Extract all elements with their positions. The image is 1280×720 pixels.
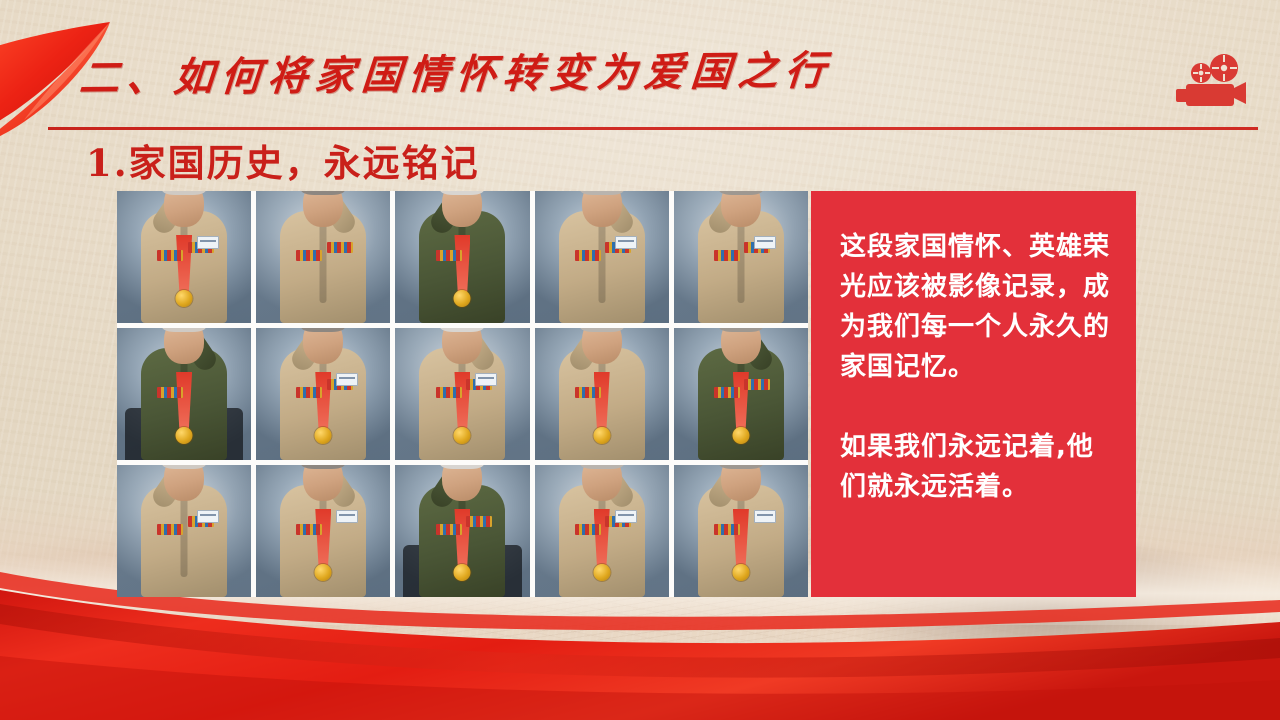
medal — [454, 564, 471, 581]
service-badge — [327, 242, 353, 253]
section-subtitle: 1.家国历史，永远铭记 — [86, 133, 480, 187]
veteran-photo — [395, 328, 529, 460]
service-badge — [714, 250, 740, 261]
film-projector-icon[interactable] — [1176, 52, 1250, 112]
service-badge — [296, 387, 322, 398]
name-tag — [615, 510, 637, 523]
service-badge — [575, 524, 601, 535]
medal — [732, 427, 749, 444]
medal — [176, 290, 193, 307]
veteran-photo — [117, 328, 251, 460]
veteran-photo — [674, 328, 808, 460]
service-badge — [744, 379, 770, 390]
veteran-head — [442, 465, 482, 501]
service-badge — [296, 250, 322, 261]
uniform-torso — [559, 211, 645, 323]
service-badge — [157, 387, 183, 398]
service-badge — [575, 250, 601, 261]
medal — [732, 564, 749, 581]
service-badge — [436, 524, 462, 535]
name-tag — [197, 236, 219, 249]
medal — [315, 564, 332, 581]
name-tag — [197, 510, 219, 523]
veteran-head — [442, 328, 482, 364]
service-badge — [436, 250, 462, 261]
name-tag — [475, 373, 497, 386]
service-badge — [714, 524, 740, 535]
service-badge — [714, 387, 740, 398]
veteran-head — [303, 191, 343, 227]
name-tag — [615, 236, 637, 249]
veteran-photo — [395, 191, 529, 323]
service-badge — [575, 387, 601, 398]
slide-header: 二、如何将家国情怀转变为爱国之行 — [0, 0, 1280, 135]
page-title: 二、如何将家国情怀转变为爱国之行 — [77, 38, 834, 104]
name-tag — [336, 510, 358, 523]
veteran-photo-grid — [117, 191, 808, 597]
veteran-head — [442, 191, 482, 227]
name-tag — [754, 236, 776, 249]
veteran-photo — [535, 328, 669, 460]
medal — [593, 427, 610, 444]
medal — [315, 427, 332, 444]
veteran-head — [164, 465, 204, 501]
veteran-photo — [395, 465, 529, 597]
veteran-photo — [674, 191, 808, 323]
service-badge — [436, 387, 462, 398]
service-badge — [157, 250, 183, 261]
medal — [454, 427, 471, 444]
name-tag — [336, 373, 358, 386]
medal — [176, 427, 193, 444]
veteran-head — [721, 328, 761, 364]
veteran-head — [303, 328, 343, 364]
veteran-photo — [674, 465, 808, 597]
service-badge — [296, 524, 322, 535]
veteran-photo — [117, 191, 251, 323]
quote-paragraph-1: 这段家国情怀、英雄荣光应该被影像记录，成为我们每一个人永久的家国记忆。 — [840, 227, 1118, 387]
veteran-head — [164, 328, 204, 364]
veteran-head — [582, 328, 622, 364]
title-divider — [48, 127, 1258, 130]
veteran-head — [164, 191, 204, 227]
veteran-head — [582, 191, 622, 227]
veteran-photo — [535, 191, 669, 323]
veteran-photo — [256, 465, 390, 597]
veteran-photo — [117, 465, 251, 597]
veteran-head — [303, 465, 343, 501]
service-badge — [466, 516, 492, 527]
name-tag — [754, 510, 776, 523]
quote-paragraph-2: 如果我们永远记着,他们就永远活着。 — [840, 427, 1118, 507]
veteran-head — [721, 465, 761, 501]
medal — [454, 290, 471, 307]
veteran-photo — [256, 328, 390, 460]
quote-panel: 这段家国情怀、英雄荣光应该被影像记录，成为我们每一个人永久的家国记忆。 如果我们… — [811, 191, 1136, 597]
service-badge — [157, 524, 183, 535]
veteran-head — [582, 465, 622, 501]
slide-canvas: 二、如何将家国情怀转变为爱国之行 — [0, 0, 1280, 720]
veteran-head — [721, 191, 761, 227]
veteran-photo — [535, 465, 669, 597]
veteran-photo — [256, 191, 390, 323]
medal — [593, 564, 610, 581]
